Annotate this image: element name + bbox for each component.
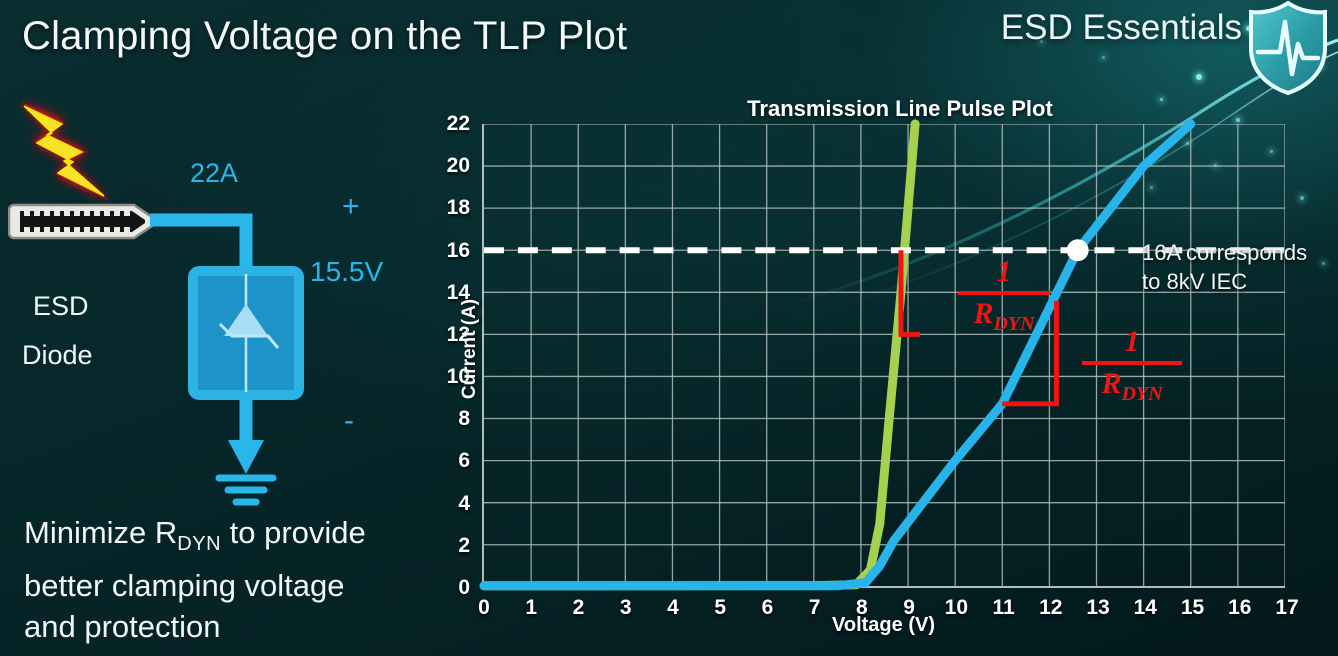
device-label-2: Diode xyxy=(22,340,93,371)
shield-pulse-icon xyxy=(1246,0,1330,96)
y-tick-label: 22 xyxy=(447,112,470,136)
esd-diode-symbol-box xyxy=(188,266,304,400)
slope-green-den-sub: DYN xyxy=(993,313,1034,335)
x-axis-label: Voltage (V) xyxy=(482,614,1285,637)
polarity-minus: - xyxy=(344,404,354,438)
caption-line-2: better clamping voltage xyxy=(24,565,444,606)
y-tick-label: 2 xyxy=(458,534,470,558)
slope-blue-denominator: RDYN xyxy=(1082,367,1182,406)
slope-annotation-green: 1 RDYN xyxy=(958,255,1050,336)
y-tick-label: 0 xyxy=(458,576,470,600)
current-label: 22A xyxy=(190,158,238,189)
tvs-zener-diode-icon xyxy=(188,266,304,400)
voltage-label: 15.5V xyxy=(310,256,383,288)
slope-blue-den-sub: DYN xyxy=(1121,383,1162,405)
annotation-16a-line2: to 8kV IEC xyxy=(1142,267,1307,296)
slope-blue-den-main: R xyxy=(1101,367,1121,400)
chart-title: Transmission Line Pulse Plot xyxy=(690,96,1110,122)
esd-circuit-diagram: 22A ESD Diode 15.5V + - xyxy=(0,96,430,516)
polarity-plus: + xyxy=(342,190,360,224)
slope-green-den-main: R xyxy=(973,297,993,330)
summary-caption: Minimize RDYN to provide better clamping… xyxy=(24,512,444,647)
caption-line-1b: to provide xyxy=(221,515,366,550)
y-tick-label: 18 xyxy=(447,196,470,220)
slope-green-denominator: RDYN xyxy=(958,297,1050,336)
operating-point-marker xyxy=(1067,239,1089,261)
slope-blue-fraction-bar xyxy=(1082,361,1182,365)
slope-green-fraction-bar xyxy=(958,291,1050,295)
slope-blue-numerator: 1 xyxy=(1082,325,1182,359)
caption-line-1a: Minimize R xyxy=(24,515,177,550)
tlp-chart: Transmission Line Pulse Plot 01234567891… xyxy=(418,86,1338,656)
y-tick-label: 20 xyxy=(447,154,470,178)
caption-line-3: and protection xyxy=(24,606,444,647)
page-title: Clamping Voltage on the TLP Plot xyxy=(22,14,627,59)
annotation-16a-line1: 16A corresponds xyxy=(1142,238,1307,267)
annotation-16a-note: 16A corresponds to 8kV IEC xyxy=(1142,238,1307,296)
y-tick-label: 4 xyxy=(458,492,470,516)
y-tick-label: 6 xyxy=(458,449,470,473)
y-axis-label: Current (A) xyxy=(459,259,481,439)
slide-canvas: Clamping Voltage on the TLP Plot ESD Ess… xyxy=(0,0,1338,656)
slope-annotation-blue: 1 RDYN xyxy=(1082,325,1182,406)
slope-green-numerator: 1 xyxy=(958,255,1050,289)
series-line xyxy=(484,124,915,586)
brand-name: ESD Essentials xyxy=(1001,8,1242,48)
caption-line-1: Minimize RDYN to provide xyxy=(24,512,444,565)
device-label-1: ESD xyxy=(33,291,89,322)
caption-subscript: DYN xyxy=(177,533,221,555)
